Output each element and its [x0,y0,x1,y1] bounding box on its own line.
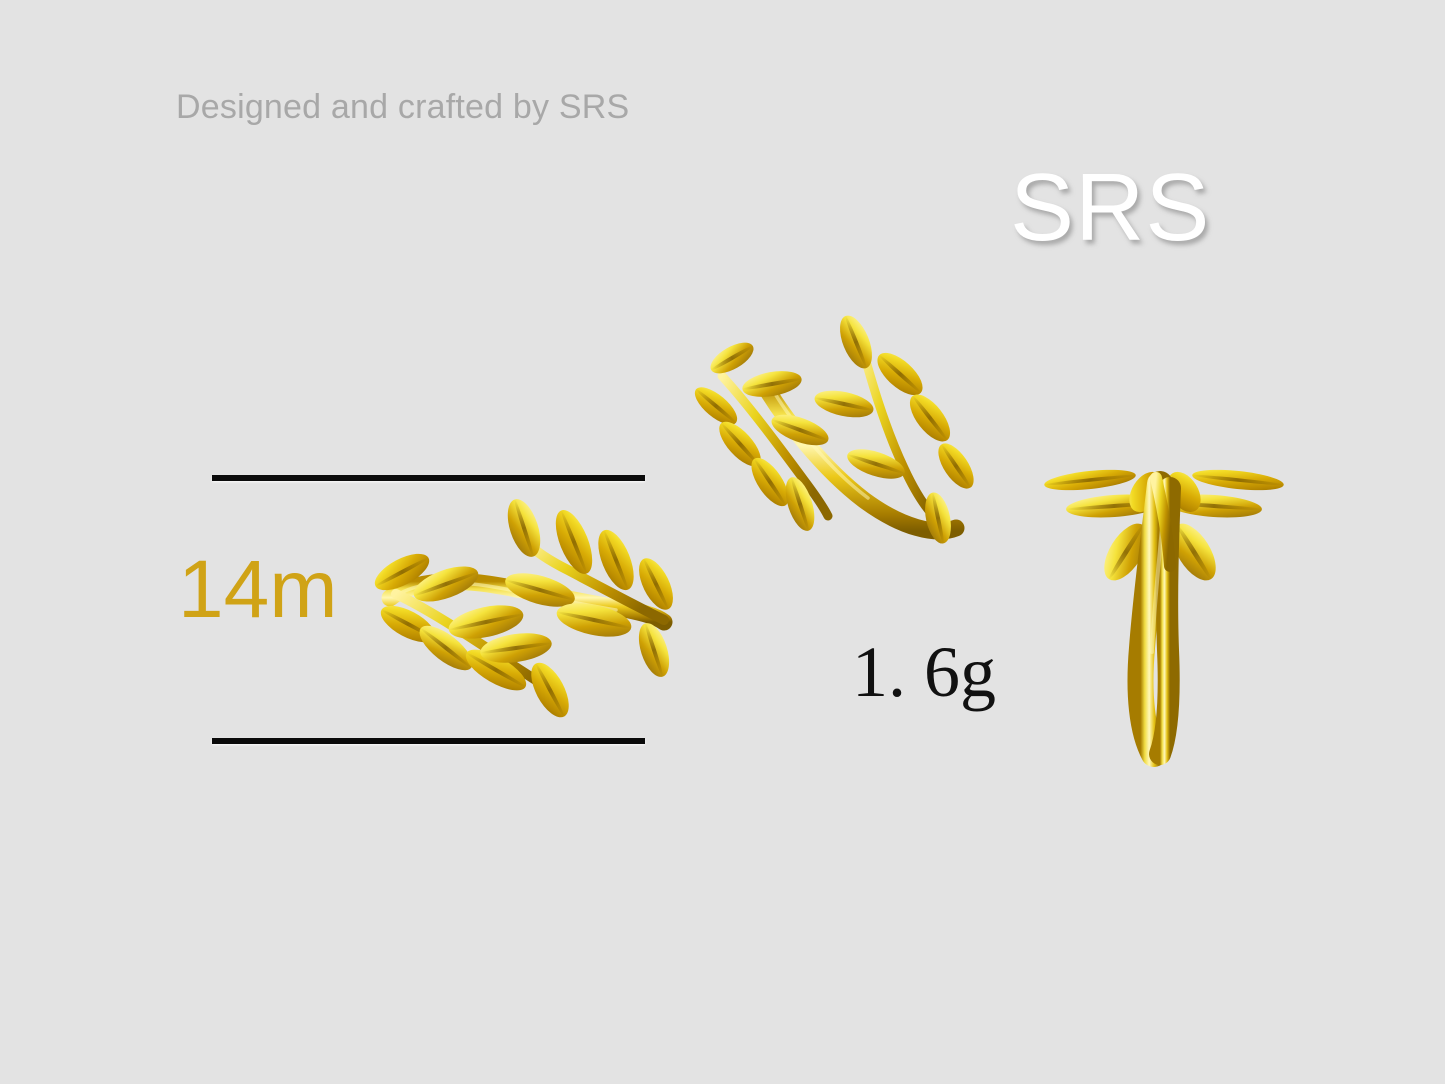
ring-view-angle [688,322,998,544]
brand-logo: SRS [1010,160,1210,256]
weight-annotation: 1. 6g [852,636,996,708]
ring-side-illustration [368,498,688,718]
dimension-line-bottom [212,738,645,744]
leaf-spray-lower-left [369,546,576,723]
product-render-canvas: Designed and crafted by SRS SRS 14m 1. 6… [0,0,1445,1084]
credit-watermark: Designed and crafted by SRS [176,88,629,127]
size-annotation: 14m [178,549,338,631]
ring-angle-illustration [688,322,998,544]
leaf-spray-left-angle [689,336,832,534]
dimension-line-top [212,475,645,481]
ring-view-front [1042,444,1292,764]
ring-view-side [368,498,688,718]
ring-front-illustration [1042,444,1292,764]
